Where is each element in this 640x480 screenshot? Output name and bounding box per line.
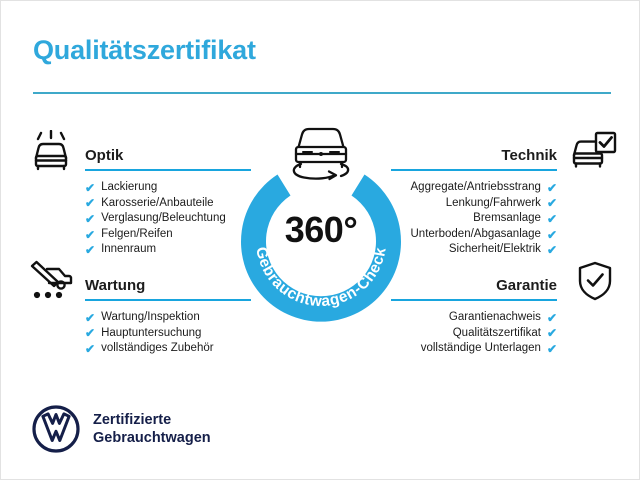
- list-item-label: vollständige Unterlagen: [421, 341, 541, 357]
- check-icon: ✔: [85, 312, 95, 324]
- check-icon: ✔: [547, 197, 557, 209]
- check-icon: ✔: [85, 327, 95, 339]
- list-item-label: Unterboden/Abgasanlage: [411, 227, 541, 243]
- list-item: ✔Lackierung: [85, 180, 251, 196]
- check-icon: ✔: [547, 244, 557, 256]
- list-item: ✔Verglasung/Beleuchtung: [85, 211, 251, 227]
- list-item-label: Felgen/Reifen: [101, 227, 173, 243]
- list-item: Unterboden/Abgasanlage✔: [391, 227, 557, 243]
- section-divider: [85, 299, 251, 301]
- page-title: Qualitätszertifikat: [33, 35, 256, 66]
- list-item: ✔Karosserie/Anbauteile: [85, 196, 251, 212]
- check-icon: ✔: [547, 182, 557, 194]
- list-item: ✔Hauptuntersuchung: [85, 326, 251, 342]
- check-icon: ✔: [547, 229, 557, 241]
- list-item-label: vollständiges Zubehör: [101, 341, 214, 357]
- list-item-label: Karosserie/Anbauteile: [101, 196, 214, 212]
- footer-text: Zertifizierte Gebrauchtwagen: [93, 411, 211, 447]
- section-title: Wartung: [85, 277, 145, 294]
- section-wartung: Wartung ✔Wartung/Inspektion ✔Hauptunters…: [85, 271, 251, 357]
- list-item: ✔Wartung/Inspektion: [85, 310, 251, 326]
- badge-degrees-label: 360°: [233, 209, 409, 251]
- footer-line-2: Gebrauchtwagen: [93, 429, 211, 447]
- section-header-garantie: Garantie: [391, 271, 557, 301]
- check-icon: ✔: [547, 327, 557, 339]
- certificate-page: Qualitätszertifikat: [0, 0, 640, 480]
- list-item: Qualitätszertifikat✔: [391, 326, 557, 342]
- car-checkbox-icon: [569, 130, 619, 177]
- check-icon: ✔: [85, 213, 95, 225]
- section-title: Technik: [501, 147, 557, 164]
- check-icon: ✔: [85, 182, 95, 194]
- list-item: vollständige Unterlagen✔: [391, 341, 557, 357]
- shield-check-icon: [576, 260, 614, 307]
- list-item: Aggregate/Antriebsstrang✔: [391, 180, 557, 196]
- check-icon: ✔: [547, 312, 557, 324]
- check-icon: ✔: [547, 213, 557, 225]
- list-item: Garantienachweis✔: [391, 310, 557, 326]
- section-garantie: Garantie Garantienachweis✔ Qualitätszert…: [391, 271, 557, 357]
- list-item-label: Verglasung/Beleuchtung: [101, 211, 226, 227]
- list-item-label: Qualitätszertifikat: [453, 326, 541, 342]
- check-icon: ✔: [85, 229, 95, 241]
- section-optik: Optik ✔Lackierung ✔Karosserie/Anbauteile…: [85, 141, 251, 258]
- vw-logo-icon: [32, 405, 80, 453]
- section-divider: [391, 169, 557, 171]
- list-item-label: Sicherheit/Elektrik: [449, 242, 541, 258]
- title-divider: [33, 92, 611, 94]
- car-shine-icon: [28, 130, 74, 177]
- section-divider: [85, 169, 251, 171]
- footer-brand: Zertifizierte Gebrauchtwagen: [32, 405, 211, 453]
- list-item-label: Lackierung: [101, 180, 157, 196]
- car-service-tool-icon: [28, 260, 74, 307]
- section-header-optik: Optik: [85, 141, 251, 171]
- list-item-label: Hauptuntersuchung: [101, 326, 201, 342]
- section-divider: [391, 299, 557, 301]
- section-header-wartung: Wartung: [85, 271, 251, 301]
- list-item-label: Aggregate/Antriebsstrang: [411, 180, 541, 196]
- list-item: ✔vollständiges Zubehör: [85, 341, 251, 357]
- section-header-technik: Technik: [391, 141, 557, 171]
- list-item-label: Lenkung/Fahrwerk: [446, 196, 541, 212]
- section-technik: Technik Aggregate/Antriebsstrang✔ Lenkun…: [391, 141, 557, 258]
- footer-line-1: Zertifizierte: [93, 411, 211, 429]
- car-rotate-icon: [279, 122, 363, 184]
- checklist-optik: ✔Lackierung ✔Karosserie/Anbauteile ✔Verg…: [85, 180, 251, 258]
- check-icon: ✔: [85, 343, 95, 355]
- list-item-label: Garantienachweis: [449, 310, 541, 326]
- list-item-label: Innenraum: [101, 242, 156, 258]
- list-item: Lenkung/Fahrwerk✔: [391, 196, 557, 212]
- section-title: Garantie: [496, 277, 557, 294]
- check-icon: ✔: [85, 244, 95, 256]
- checklist-garantie: Garantienachweis✔ Qualitätszertifikat✔ v…: [391, 310, 557, 357]
- checklist-technik: Aggregate/Antriebsstrang✔ Lenkung/Fahrwe…: [391, 180, 557, 258]
- check-icon: ✔: [85, 197, 95, 209]
- list-item: ✔Innenraum: [85, 242, 251, 258]
- section-title: Optik: [85, 147, 123, 164]
- list-item: Bremsanlage✔: [391, 211, 557, 227]
- checklist-wartung: ✔Wartung/Inspektion ✔Hauptuntersuchung ✔…: [85, 310, 251, 357]
- list-item-label: Wartung/Inspektion: [101, 310, 200, 326]
- list-item-label: Bremsanlage: [473, 211, 541, 227]
- list-item: Sicherheit/Elektrik✔: [391, 242, 557, 258]
- list-item: ✔Felgen/Reifen: [85, 227, 251, 243]
- check-icon: ✔: [547, 343, 557, 355]
